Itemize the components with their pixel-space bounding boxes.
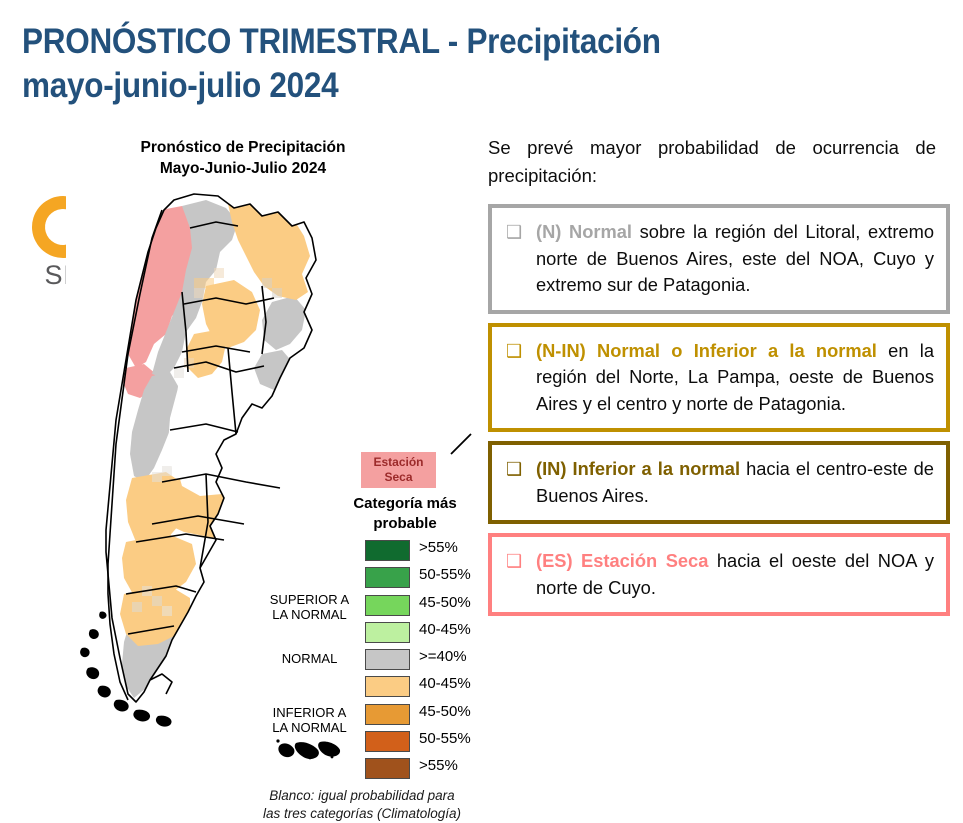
forecast-map-figure: SMN Pronóstico de Precipitación Mayo-Jun… [8, 132, 470, 732]
legend-row: 45-50% [253, 701, 468, 728]
page-title: PRONÓSTICO TRIMESTRAL - Precipitación ma… [22, 20, 832, 108]
legend-swatch-label: 40-45% [419, 621, 471, 638]
callout-normal-or-below-text: (N-IN) Normal o Inferior a la normal en … [536, 338, 934, 418]
legend-swatch [365, 540, 410, 561]
legend-swatch [365, 704, 410, 725]
legend-swatch [365, 758, 410, 779]
callout-normal-or-below-lead: (N-IN) Normal o Inferior a la normal [536, 340, 877, 361]
legend-swatch-label: >55% [419, 539, 458, 556]
legend-swatch [365, 676, 410, 697]
legend-swatch [365, 649, 410, 670]
callout-below-normal[interactable]: ❑ (IN) Inferior a la normal hacia el cen… [488, 441, 950, 524]
legend-swatch [365, 567, 410, 588]
legend-swatch-label: >=40% [419, 648, 467, 665]
legend-row: >=40% [253, 646, 468, 673]
forecast-summary-panel: Se prevé mayor probabilidad de ocurrenci… [488, 134, 950, 616]
legend-row: 45-50% [253, 592, 468, 619]
callout-dry-season-lead: (ES) Estación Seca [536, 550, 708, 571]
legend-swatch-label: 50-55% [419, 566, 471, 583]
legend-row: >55% [253, 537, 468, 564]
legend-swatch-label: 45-50% [419, 703, 471, 720]
callout-normal-or-below[interactable]: ❑ (N-IN) Normal o Inferior a la normal e… [488, 323, 950, 433]
map-note: Blanco: igual probabilidad para las tres… [240, 787, 484, 823]
legend-swatch-label: 40-45% [419, 675, 471, 692]
callout-normal-text: (N) Normal sobre la región del Litoral, … [536, 219, 934, 299]
legend-heading: Categoría más probable [341, 494, 469, 533]
checkbox-icon[interactable]: ❑ [506, 456, 536, 482]
legend-swatch [365, 622, 410, 643]
callout-below-normal-text: (IN) Inferior a la normal hacia el centr… [536, 456, 934, 509]
checkbox-icon[interactable]: ❑ [506, 219, 536, 245]
checkbox-icon[interactable]: ❑ [506, 548, 536, 574]
callout-normal[interactable]: ❑ (N) Normal sobre la región del Litoral… [488, 204, 950, 314]
checkbox-icon[interactable]: ❑ [506, 338, 536, 364]
panel-intro-text: Se prevé mayor probabilidad de ocurrenci… [488, 134, 936, 190]
callout-dry-season-text: (ES) Estación Seca hacia el oeste del NO… [536, 548, 934, 601]
callout-normal-lead: (N) Normal [536, 221, 632, 242]
estacion-seca-callout: Estación Seca [361, 452, 436, 488]
legend-row: 40-45% [253, 673, 468, 700]
callout-dry-season[interactable]: ❑ (ES) Estación Seca hacia el oeste del … [488, 533, 950, 616]
legend-swatch-label: >55% [419, 757, 458, 774]
callout-below-normal-lead: (IN) Inferior a la normal [536, 458, 740, 479]
legend-row: 50-55% [253, 564, 468, 591]
islands-glyph-icon [276, 739, 346, 761]
callout-leader-line [433, 432, 473, 458]
legend-row: 40-45% [253, 619, 468, 646]
legend-swatch [365, 731, 410, 752]
legend-swatch-label: 45-50% [419, 594, 471, 611]
map-title: Pronóstico de Precipitación Mayo-Junio-J… [112, 138, 374, 179]
legend-swatch [365, 595, 410, 616]
